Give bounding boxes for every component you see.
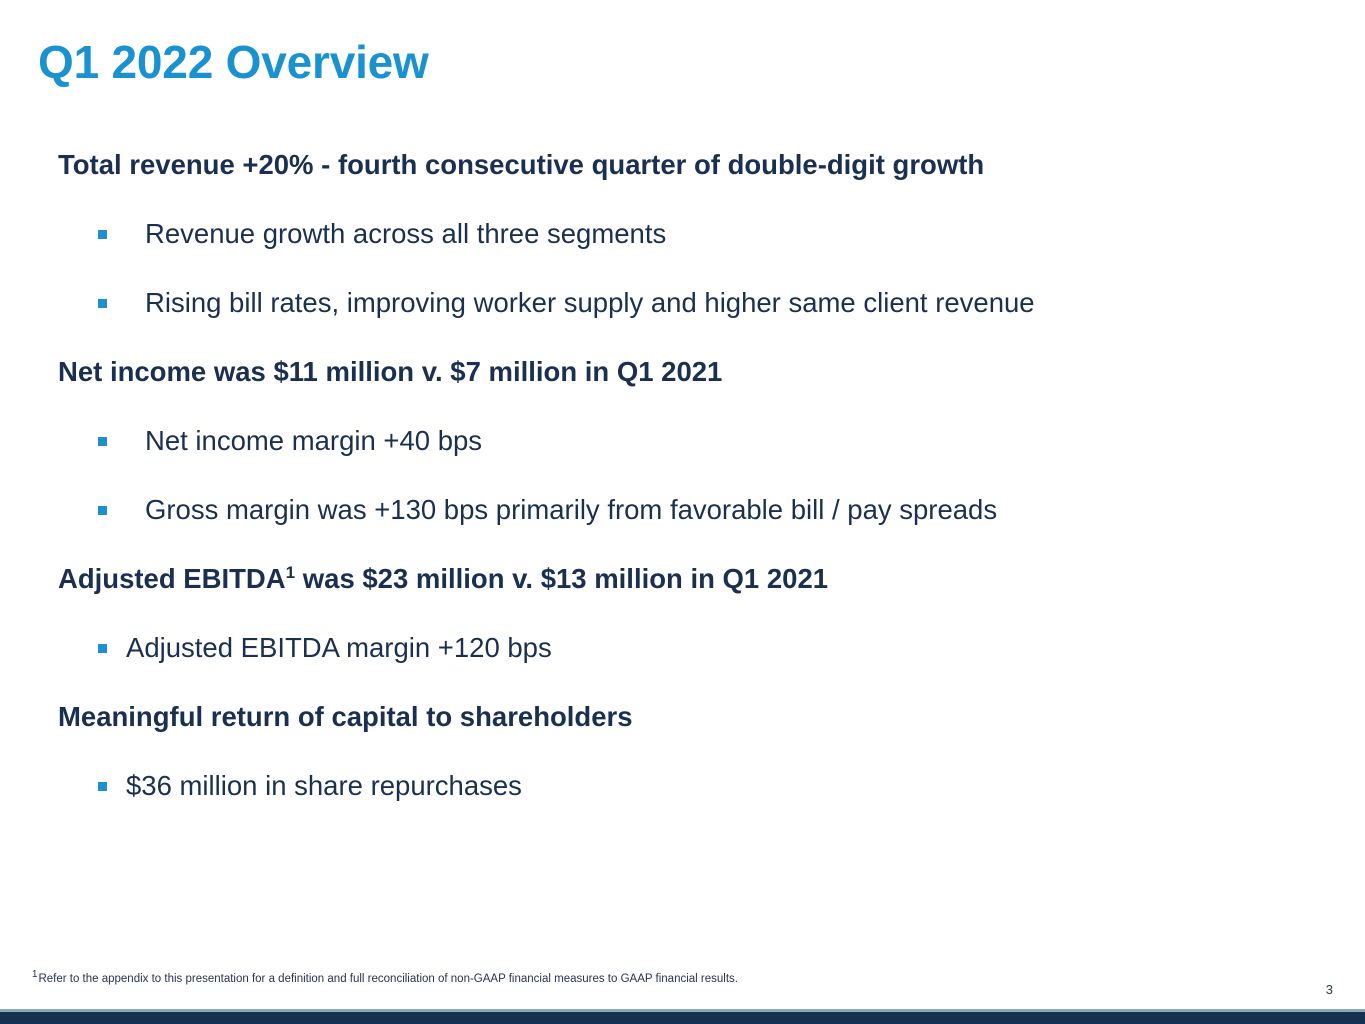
slide: Q1 2022 Overview Total revenue +20% - fo… (0, 0, 1365, 1024)
page-title: Q1 2022 Overview (38, 38, 429, 86)
list-item-label: $36 million in share repurchases (126, 769, 522, 802)
list-item-label: Rising bill rates, improving worker supp… (145, 286, 1035, 319)
square-bullet-icon (98, 230, 107, 239)
square-bullet-icon (98, 437, 107, 446)
footnote: 1Refer to the appendix to this presentat… (32, 973, 738, 987)
content-line: Adjusted EBITDA1 was $23 million v. $13 … (0, 562, 1365, 631)
content-line: Revenue growth across all three segments (0, 217, 1365, 286)
bullet-heading-net-income: Net income was $11 million v. $7 million… (58, 355, 722, 388)
content-line: Meaningful return of capital to sharehol… (0, 700, 1365, 769)
content-line: Total revenue +20% - fourth consecutive … (0, 148, 1365, 217)
content-line: Net income margin +40 bps (0, 424, 1365, 493)
slide-body: Total revenue +20% - fourth consecutive … (0, 148, 1365, 838)
content-line: $36 million in share repurchases (0, 769, 1365, 838)
footer-bar (0, 1012, 1365, 1024)
list-item-label: Net income margin +40 bps (145, 424, 482, 457)
heading-text-before: Adjusted EBITDA (58, 563, 286, 594)
content-line: Adjusted EBITDA margin +120 bps (0, 631, 1365, 700)
square-bullet-icon (98, 782, 107, 791)
square-bullet-icon (98, 506, 107, 515)
footnote-marker: 1 (286, 563, 295, 582)
bullet-heading-adjusted-ebitda: Adjusted EBITDA1 was $23 million v. $13 … (58, 562, 828, 595)
list-item-label: Adjusted EBITDA margin +120 bps (126, 631, 552, 664)
list-item-label: Gross margin was +130 bps primarily from… (145, 493, 997, 526)
page-number: 3 (1326, 982, 1333, 997)
square-bullet-icon (98, 644, 107, 653)
square-bullet-icon (98, 299, 107, 308)
bullet-heading-total-revenue: Total revenue +20% - fourth consecutive … (58, 148, 984, 181)
content-line: Gross margin was +130 bps primarily from… (0, 493, 1365, 562)
list-item-label: Revenue growth across all three segments (145, 217, 666, 250)
content-line: Net income was $11 million v. $7 million… (0, 355, 1365, 424)
heading-text-after: was $23 million v. $13 million in Q1 202… (295, 563, 828, 594)
footnote-marker-icon: 1 (32, 969, 37, 980)
bullet-heading-return-of-capital: Meaningful return of capital to sharehol… (58, 700, 633, 733)
footnote-text: Refer to the appendix to this presentati… (38, 973, 738, 985)
content-line: Rising bill rates, improving worker supp… (0, 286, 1365, 355)
